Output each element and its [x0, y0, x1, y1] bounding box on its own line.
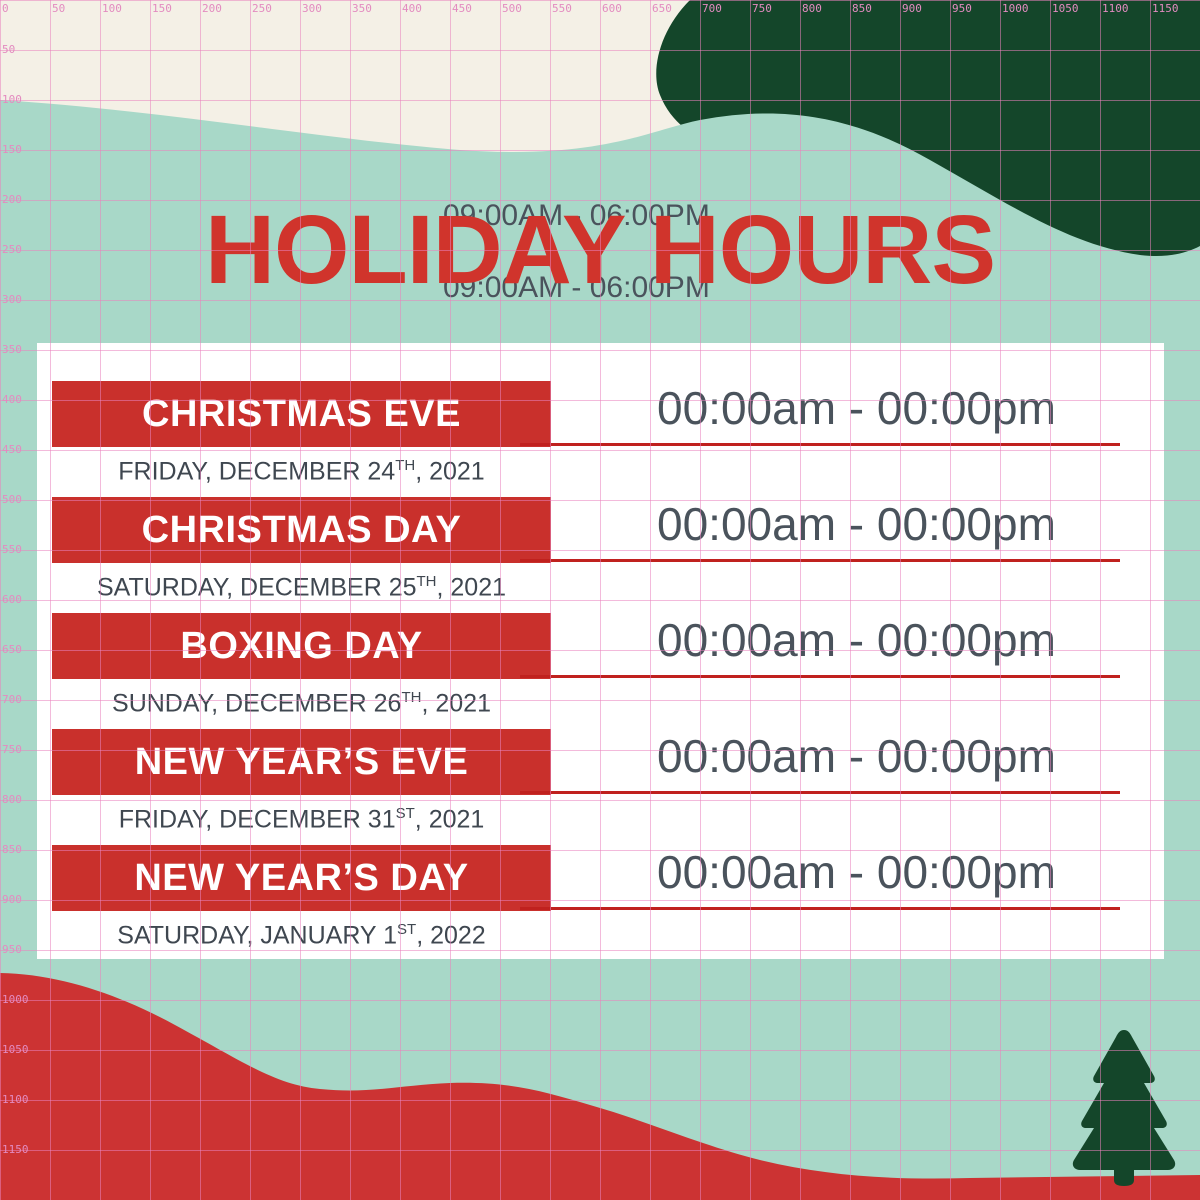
holiday-name-bar: BOXING DAY	[52, 613, 551, 679]
holiday-name-label: CHRISTMAS DAY	[142, 511, 462, 549]
grid-tick-label: 150	[2, 144, 22, 155]
hours-underline	[520, 675, 1120, 678]
grid-tick-label: 750	[2, 744, 22, 755]
poster-canvas: 09:00AM - 06:00PM 09:00AM - 06:00PM 09:0…	[0, 0, 1200, 1200]
holiday-name-label: NEW YEAR’S DAY	[134, 859, 468, 897]
grid-tick-label: 700	[2, 694, 22, 705]
date-ordinal: ST	[397, 921, 416, 938]
grid-tick-label: 800	[2, 794, 22, 805]
grid-tick-label: 50	[52, 3, 65, 14]
grid-tick-label: 650	[2, 644, 22, 655]
grid-tick-label: 950	[2, 944, 22, 955]
hours-value: 00:00am - 00:00pm	[657, 383, 1137, 433]
grid-tick-label: 450	[2, 444, 22, 455]
grid-tick-label: 1050	[1052, 3, 1079, 14]
date-suffix: , 2022	[416, 921, 486, 949]
date-prefix: SATURDAY, JANUARY 1	[117, 921, 397, 949]
grid-tick-label: 800	[802, 3, 822, 14]
grid-tick-label: 300	[302, 3, 322, 14]
table-row: NEW YEAR’S EVE 00:00am - 00:00pm FRIDAY,…	[37, 691, 1164, 807]
grid-tick-label: 900	[2, 894, 22, 905]
hours-value: 00:00am - 00:00pm	[657, 499, 1137, 549]
grid-tick-label: 350	[2, 344, 22, 355]
grid-tick-label: 1150	[1152, 3, 1179, 14]
holiday-name-label: NEW YEAR’S EVE	[135, 743, 469, 781]
grid-tick-label: 600	[2, 594, 22, 605]
grid-tick-label: 400	[402, 3, 422, 14]
grid-tick-label: 1100	[2, 1094, 29, 1105]
grid-tick-label: 1100	[1102, 3, 1129, 14]
holiday-name-label: BOXING DAY	[180, 627, 422, 665]
grid-tick-label: 1000	[2, 994, 29, 1005]
hours-value: 00:00am - 00:00pm	[657, 615, 1137, 665]
holiday-name-bar: NEW YEAR’S DAY	[52, 845, 551, 911]
grid-tick-label: 250	[252, 3, 272, 14]
grid-tick-label: 350	[352, 3, 372, 14]
holiday-name-bar: CHRISTMAS EVE	[52, 381, 551, 447]
grid-tick-label: 450	[452, 3, 472, 14]
table-row: CHRISTMAS DAY 00:00am - 00:00pm SATURDAY…	[37, 459, 1164, 575]
hours-value: 00:00am - 00:00pm	[657, 731, 1137, 781]
grid-tick-label: 1050	[2, 1044, 29, 1055]
grid-tick-label: 600	[602, 3, 622, 14]
grid-tick-label: 150	[152, 3, 172, 14]
grid-tick-label: 200	[202, 3, 222, 14]
hours-underline	[520, 443, 1120, 446]
grid-tick-label: 1150	[2, 1144, 29, 1155]
grid-tick-label: 950	[952, 3, 972, 14]
hours-underline	[520, 907, 1120, 910]
grid-tick-label: 850	[2, 844, 22, 855]
grid-tick-label: 100	[2, 94, 22, 105]
holiday-name-label: CHRISTMAS EVE	[142, 395, 461, 433]
grid-tick-label: 500	[502, 3, 522, 14]
grid-tick-label: 0	[2, 3, 9, 14]
hours-underline	[520, 559, 1120, 562]
grid-tick-label: 700	[702, 3, 722, 14]
grid-tick-label: 50	[2, 44, 15, 55]
table-row: BOXING DAY 00:00am - 00:00pm SUNDAY, DEC…	[37, 575, 1164, 691]
grid-tick-label: 400	[2, 394, 22, 405]
grid-tick-label: 750	[752, 3, 772, 14]
hours-value: 00:00am - 00:00pm	[657, 847, 1137, 897]
grid-tick-label: 650	[652, 3, 672, 14]
grid-tick-label: 900	[902, 3, 922, 14]
grid-tick-label: 100	[102, 3, 122, 14]
grid-tick-label: 250	[2, 244, 22, 255]
table-row: CHRISTMAS EVE 00:00am - 00:00pm FRIDAY, …	[37, 343, 1164, 459]
grid-tick-label: 850	[852, 3, 872, 14]
table-row: NEW YEAR’S DAY 00:00am - 00:00pm SATURDA…	[37, 807, 1164, 923]
grid-tick-label: 200	[2, 194, 22, 205]
grid-tick-label: 500	[2, 494, 22, 505]
holiday-date-label: SATURDAY, JANUARY 1ST, 2022	[52, 917, 551, 948]
grid-tick-label: 550	[2, 544, 22, 555]
holiday-name-bar: CHRISTMAS DAY	[52, 497, 551, 563]
holiday-name-bar: NEW YEAR’S EVE	[52, 729, 551, 795]
grid-tick-label: 300	[2, 294, 22, 305]
christmas-tree-icon	[1068, 1026, 1180, 1186]
hours-card: CHRISTMAS EVE 00:00am - 00:00pm FRIDAY, …	[37, 343, 1164, 959]
grid-tick-label: 1000	[1002, 3, 1029, 14]
hours-underline	[520, 791, 1120, 794]
grid-tick-label: 550	[552, 3, 572, 14]
page-title: HOLIDAY HOURS	[0, 201, 1200, 298]
